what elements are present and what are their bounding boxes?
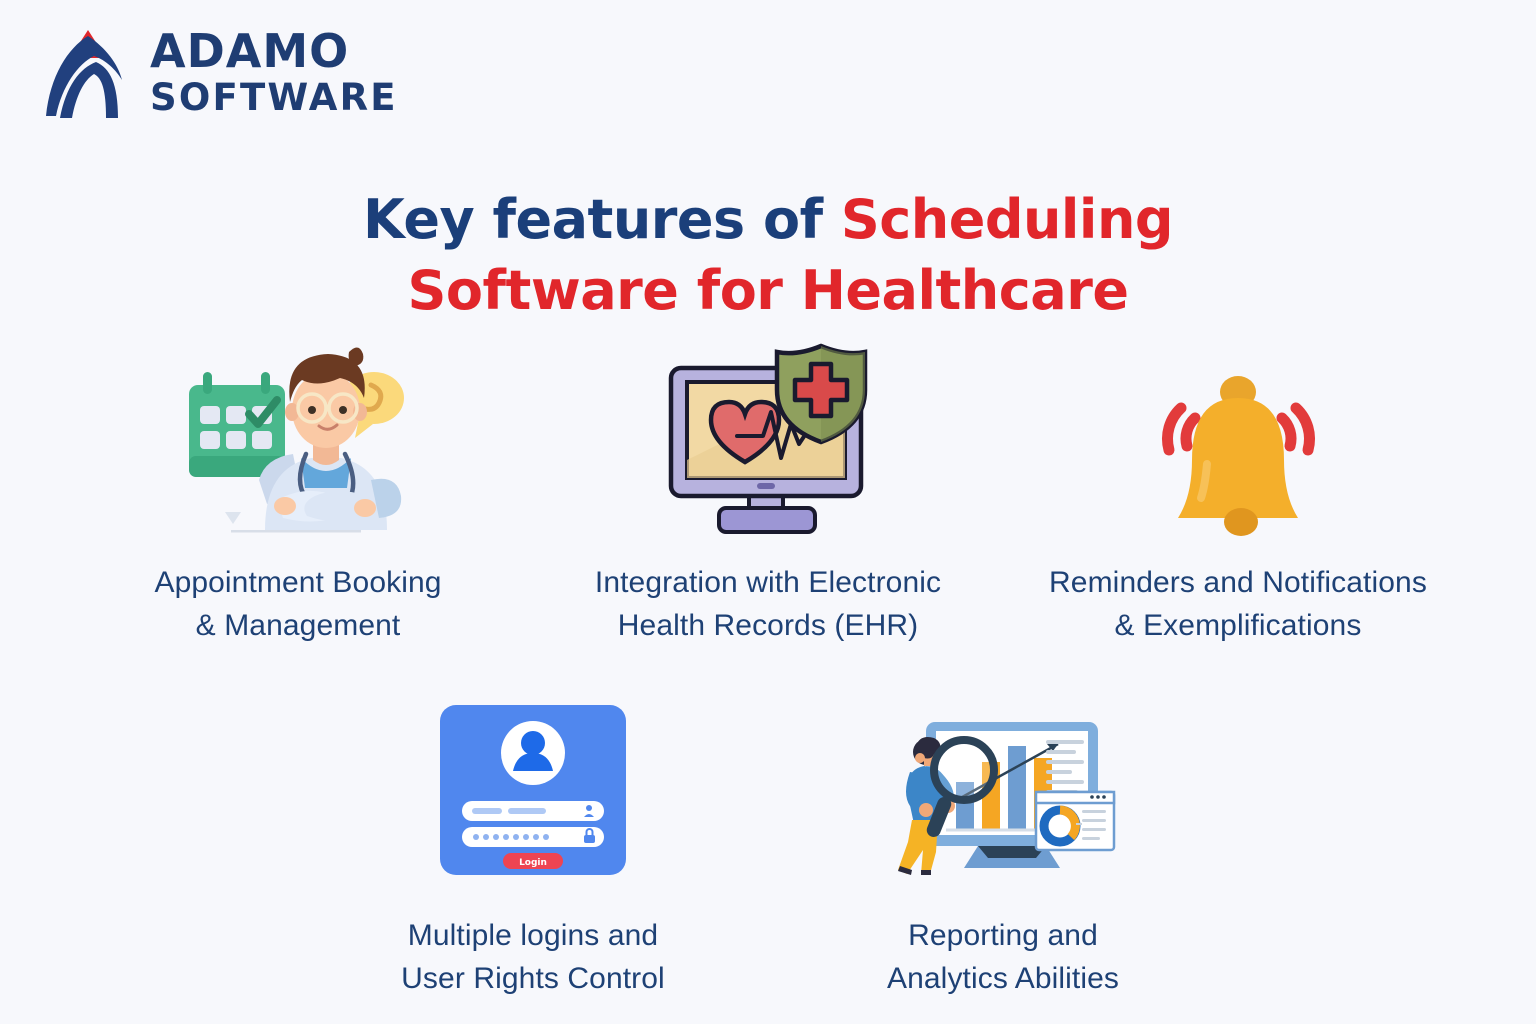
brand-name-line2: SOFTWARE [150, 79, 398, 116]
feature-reminders-notifications: Reminders and Notifications & Exemplific… [1003, 330, 1473, 647]
doctor-with-calendar-icon [168, 330, 428, 540]
feature-row-bottom: Login Multiple logins and User Rights Co… [0, 690, 1536, 1000]
monitor-heartbeat-shield-icon [638, 330, 898, 540]
ringing-bell-icon [1108, 330, 1368, 540]
brand-name-line1: ADAMO [150, 28, 398, 74]
login-card-icon: Login [403, 690, 663, 875]
title-part-2: Scheduling [841, 188, 1173, 251]
feature-ehr-integration: Integration with Electronic Health Recor… [533, 330, 1003, 647]
brand-wordmark: ADAMO SOFTWARE [150, 28, 398, 116]
page-title: Key features of Scheduling Software for … [0, 184, 1536, 327]
login-button-label: Login [519, 858, 547, 868]
feature-label: Integration with Electronic Health Recor… [595, 562, 941, 647]
adamo-swoosh-logo-icon [44, 24, 128, 120]
feature-row-top: Appointment Booking & Management [0, 330, 1536, 647]
feature-label: Multiple logins and User Rights Control [401, 915, 665, 1000]
brand-logo: ADAMO SOFTWARE [44, 24, 398, 120]
feature-reporting-analytics: Reporting and Analytics Abilities [768, 690, 1238, 1000]
analytics-dashboard-icon [873, 690, 1133, 875]
title-part-3: Software for Healthcare [408, 259, 1129, 322]
feature-label: Reminders and Notifications & Exemplific… [1049, 562, 1427, 647]
feature-label: Appointment Booking & Management [154, 562, 441, 647]
feature-multiple-logins: Login Multiple logins and User Rights Co… [298, 690, 768, 1000]
title-part-1: Key features of [363, 188, 841, 251]
feature-label: Reporting and Analytics Abilities [887, 915, 1119, 1000]
feature-appointment-booking: Appointment Booking & Management [63, 330, 533, 647]
